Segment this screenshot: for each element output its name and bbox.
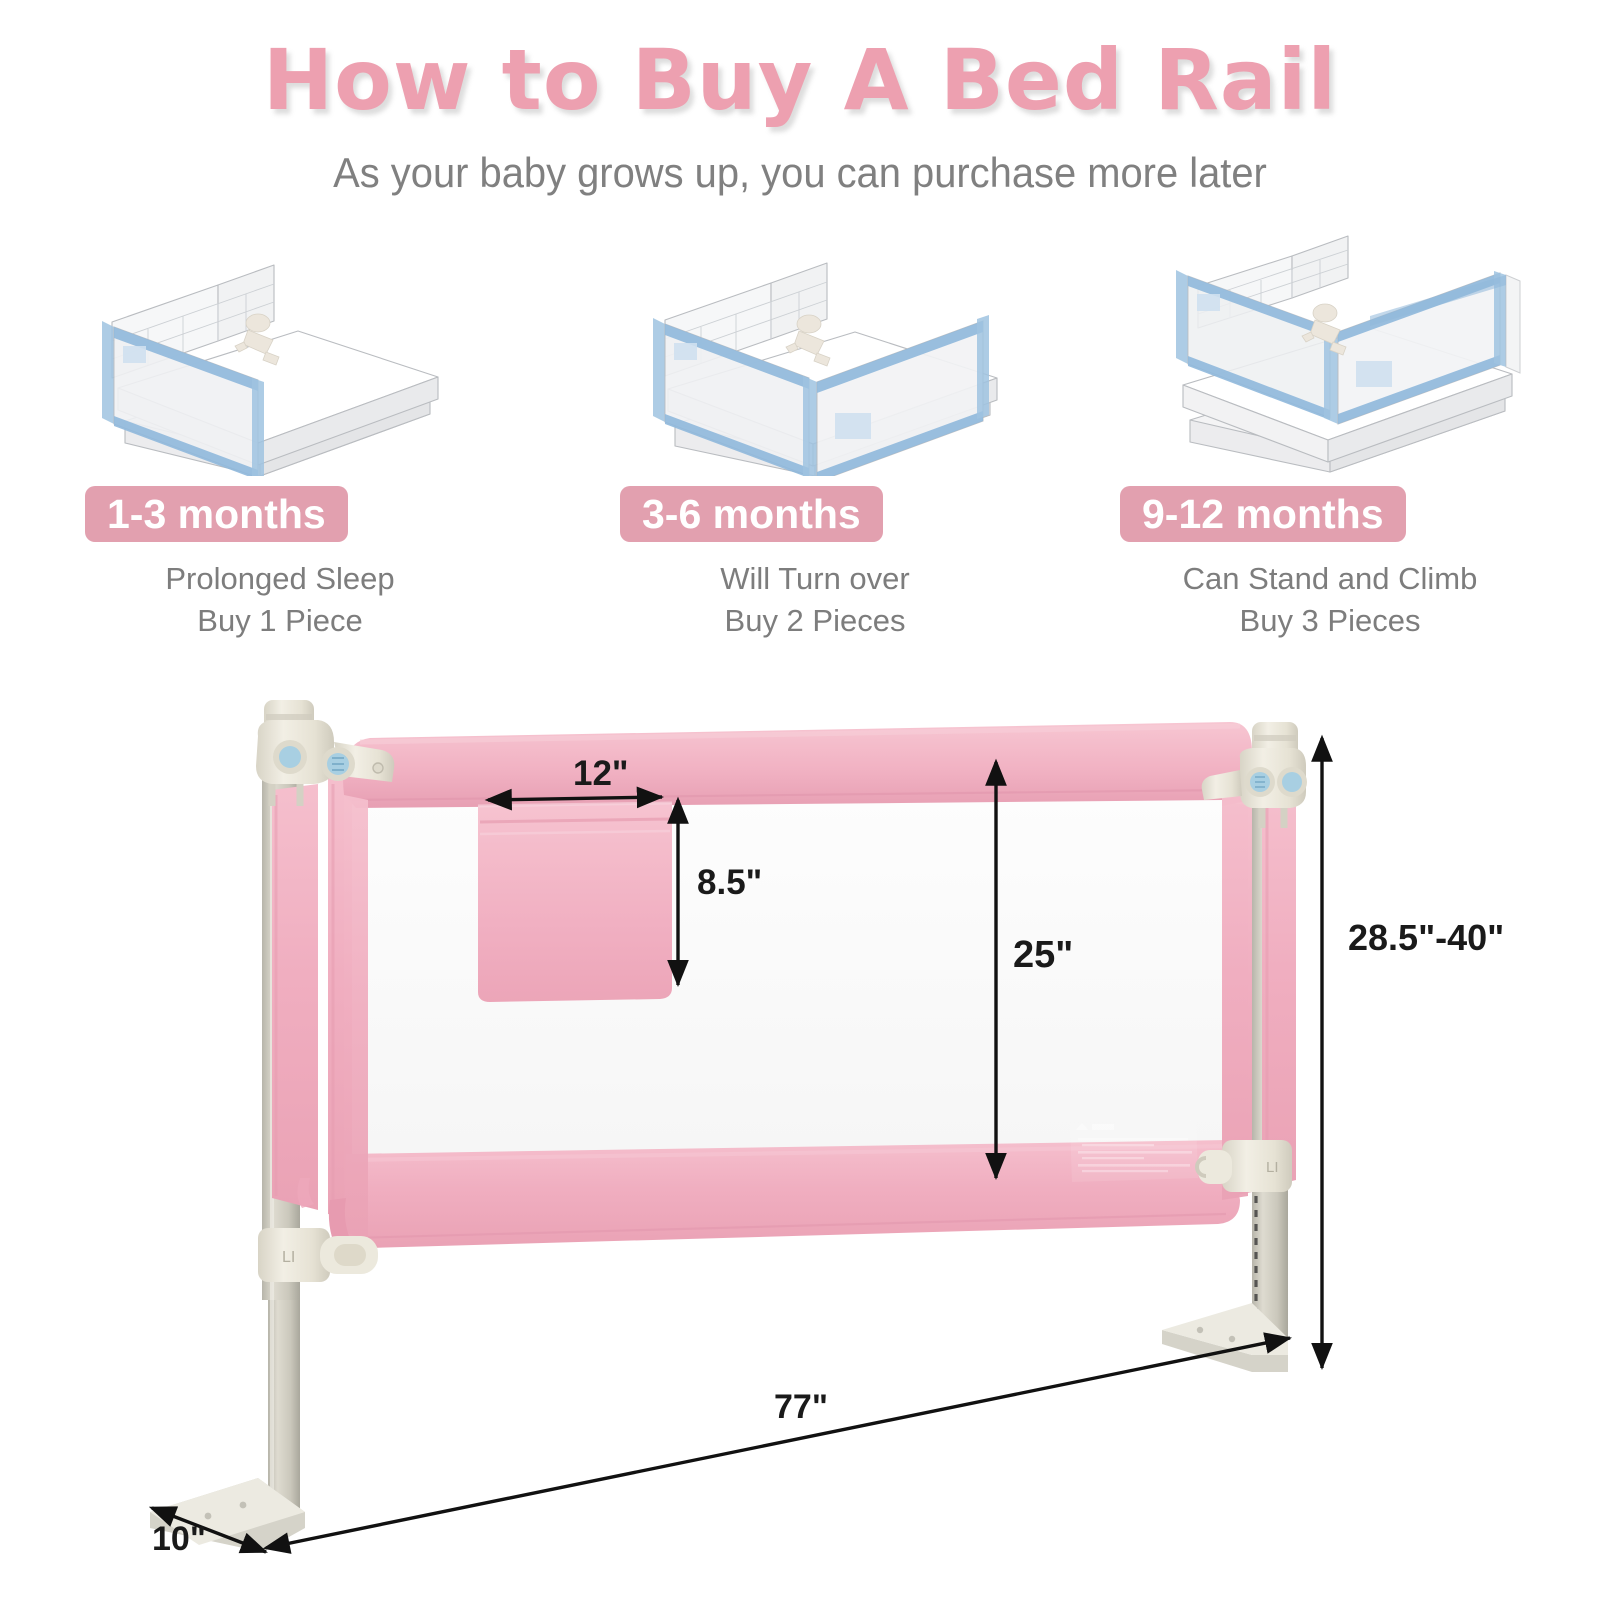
rail-right-edge: [1222, 788, 1248, 1200]
left-lock-collar: LI: [258, 1228, 378, 1282]
dimension-label-base-depth: 10": [152, 1520, 206, 1559]
svg-text:LI: LI: [1266, 1159, 1279, 1176]
bed-rail-product-photo: LI LI 12" 8.5" 25" 28.5"-40" 77": [0, 0, 1600, 1600]
notice-printed-label: [1070, 1120, 1198, 1182]
svg-text:LI: LI: [282, 1249, 295, 1266]
rail-left-edge: [344, 795, 368, 1240]
dimension-label-pocket-width: 12": [573, 754, 629, 794]
dimension-label-total-height: 28.5"-40": [1348, 917, 1504, 959]
dimension-label-total-length: 77": [774, 1388, 828, 1427]
dimension-label-pocket-height: 8.5": [697, 863, 762, 903]
dimension-label-mesh-height: 25": [1013, 934, 1073, 977]
top-padded-bar: [343, 722, 1252, 808]
storage-pocket: [478, 803, 672, 1002]
